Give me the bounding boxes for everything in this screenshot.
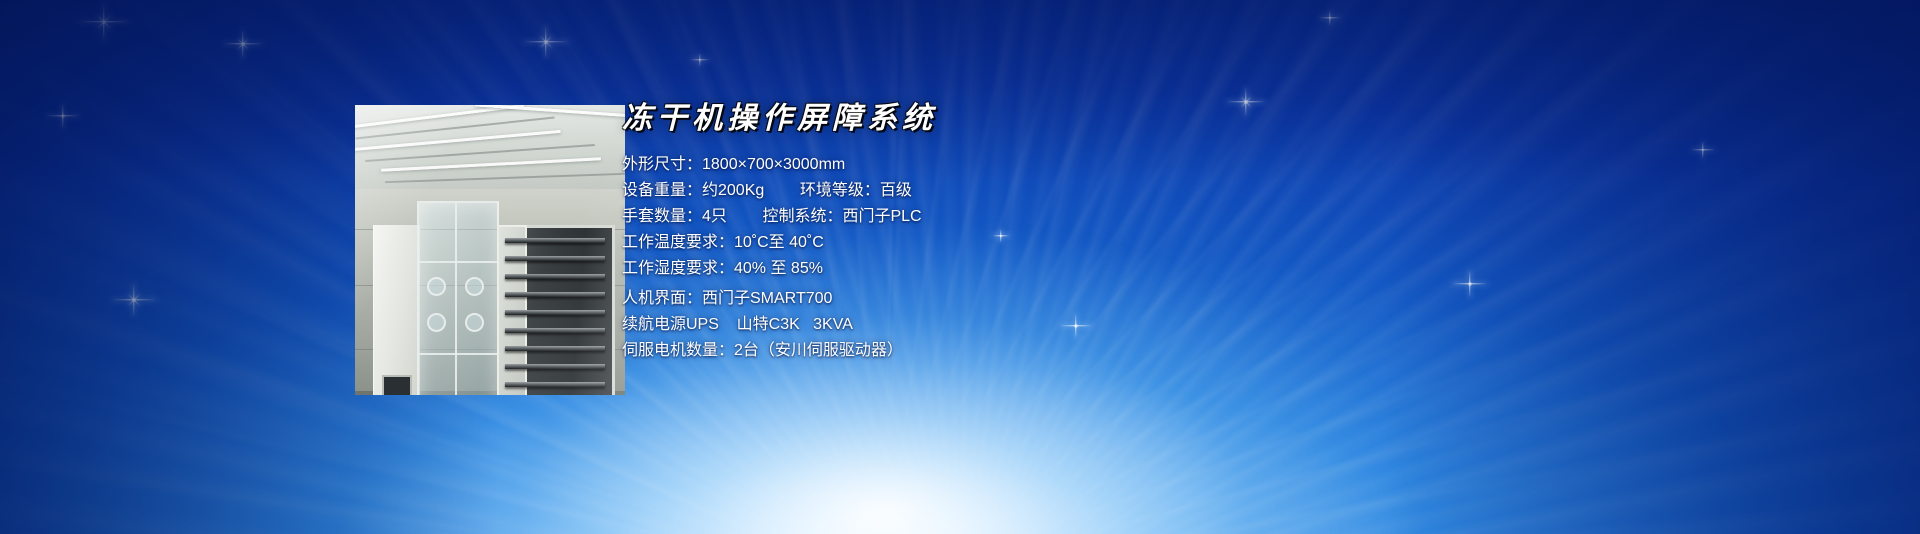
- product-banner: 冻干机操作屏障系统 外形尺寸：1800×700×3000mm 设备重量：约200…: [0, 0, 1920, 534]
- spec-item-ups: 续航电源UPS 山特C3K 3KVA: [622, 312, 1142, 338]
- spec-item-gloves-control: 手套数量：4只 控制系统：西门子PLC: [622, 204, 1142, 230]
- spec-item-humidity: 工作湿度要求：40% 至 85%: [622, 256, 1142, 282]
- page-title: 冻干机操作屏障系统: [622, 104, 1142, 134]
- spec-item-dimensions: 外形尺寸：1800×700×3000mm: [622, 152, 1142, 178]
- photo-ceiling: [355, 105, 625, 191]
- spec-item-servo-motors: 伺服电机数量：2台（安川伺服驱动器）: [622, 338, 1142, 364]
- banner-text-block: 冻干机操作屏障系统 外形尺寸：1800×700×3000mm 设备重量：约200…: [622, 104, 1142, 364]
- photo-freeze-dryer-trays: [497, 225, 615, 395]
- spec-list: 外形尺寸：1800×700×3000mm 设备重量：约200Kg 环境等级：百级…: [622, 152, 1142, 364]
- product-photo: [355, 105, 625, 395]
- spec-item-weight-cleanclass: 设备重量：约200Kg 环境等级：百级: [622, 178, 1142, 204]
- photo-control-cabinet: [373, 225, 420, 395]
- spec-item-hmi: 人机界面：西门子SMART700: [622, 286, 1142, 312]
- spec-item-temperature: 工作温度要求：10˚C至 40˚C: [622, 230, 1142, 256]
- photo-glass-isolator: [417, 201, 499, 395]
